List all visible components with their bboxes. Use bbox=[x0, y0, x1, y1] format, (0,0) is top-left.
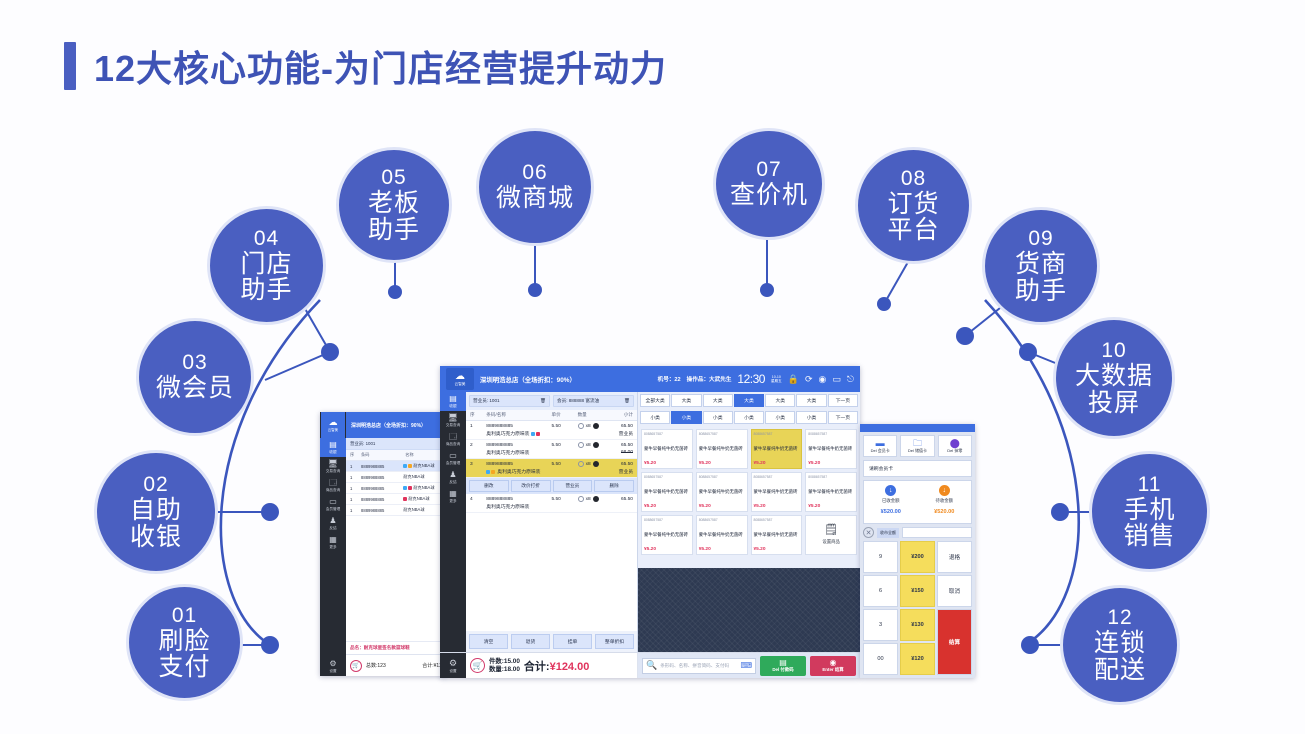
tab-minor[interactable]: 小类 bbox=[703, 411, 733, 424]
down-arrow-icon: ↓ bbox=[885, 485, 896, 496]
feature-number: 07 bbox=[756, 159, 781, 181]
key-backspace[interactable]: 退格 bbox=[937, 541, 972, 573]
pos-small-footer: 🛒 总数:123 合计:¥12 bbox=[346, 654, 446, 676]
feature-number: 02 bbox=[143, 474, 168, 496]
pos-main-body: ▤ 收银 🖥 交易查询 🗔 商品查询 ▭ 会员管理 ♟ 反结 bbox=[440, 392, 860, 652]
received-label: 已收金额 bbox=[882, 498, 900, 503]
feature-number: 06 bbox=[522, 162, 547, 184]
tab-major[interactable]: 大类 bbox=[703, 394, 733, 407]
row-name: 奥利奥巧克力原味装 bbox=[486, 430, 529, 437]
product-card[interactable]: 8088657587 蒙牛早餐纯牛奶无菌砖 ¥5.20 bbox=[805, 472, 857, 512]
feature-circle-01[interactable]: 01 刷脸支付 bbox=[126, 584, 243, 701]
sidebar-label: 收银 bbox=[449, 404, 456, 409]
total-label: 合计: bbox=[524, 661, 550, 673]
settle-icon: ◉ bbox=[830, 659, 837, 667]
key-amount[interactable]: ¥150 bbox=[900, 575, 935, 607]
sidebar-label: 反结 bbox=[449, 480, 456, 485]
monitor-icon: 🖥 bbox=[448, 414, 458, 422]
product-code: 8088657587 bbox=[699, 518, 745, 522]
date-display: 10-10 星期五 bbox=[771, 375, 782, 384]
row-index: 1 bbox=[350, 475, 361, 480]
tab-major[interactable]: 大类 bbox=[765, 394, 795, 407]
barcode-icon: ▤ bbox=[779, 659, 787, 667]
row-code: 8889888885 bbox=[486, 497, 551, 502]
amount-tag: 收市全额 bbox=[877, 528, 899, 538]
tab-minor[interactable]: 小类 bbox=[765, 411, 795, 424]
goods-icon: 🗔 bbox=[329, 479, 338, 487]
row-name: 耐克NBA球 bbox=[413, 485, 434, 491]
row-subtotal: 65.50 bbox=[607, 497, 633, 502]
settings-goods-icon: 🗒 bbox=[824, 525, 838, 536]
hold-button[interactable]: 挂单 bbox=[553, 634, 592, 649]
plus-button[interactable] bbox=[593, 423, 599, 429]
tab-major[interactable]: 全部大类 bbox=[640, 394, 670, 407]
product-code: 8088657587 bbox=[754, 518, 800, 522]
feature-label: 老板助手 bbox=[368, 190, 420, 243]
reverse-icon: ♟ bbox=[449, 471, 456, 479]
cart-row-line1: 2 8889888885 5.50 x8 65.50 bbox=[470, 442, 633, 448]
sidebar-label: 商品查询 bbox=[446, 442, 460, 447]
cart-icon: 🛒 bbox=[470, 658, 485, 673]
pos-small-title: 深圳明浩总店（全场折扣：90%） bbox=[346, 412, 446, 438]
search-placeholder: 条形码、名称、拼音简码、支付码 bbox=[660, 663, 729, 669]
payment-keypad: 9 ¥200 退格 6 ¥150 取消 3 ¥130 结算 00 ¥120 bbox=[860, 541, 975, 678]
product-price: ¥5.20 bbox=[754, 547, 800, 552]
cart-buttons: 清空 退货 挂单 整单折扣 bbox=[466, 631, 637, 652]
feature-number: 05 bbox=[381, 167, 406, 189]
product-card[interactable]: 8088657587 蒙牛早餐纯牛奶无菌砖 ¥5.20 bbox=[751, 515, 803, 555]
sidebar-item-cashier[interactable]: ▤ 收银 bbox=[440, 392, 466, 411]
key-digit[interactable]: 9 bbox=[863, 541, 898, 573]
feature-number: 11 bbox=[1138, 474, 1162, 496]
tag-dot bbox=[536, 432, 540, 436]
row-note: 营业员 bbox=[619, 430, 633, 437]
key-settle[interactable]: 结算 bbox=[937, 609, 972, 675]
shop-title: 深圳明浩总店（全场折扣：90%） bbox=[480, 375, 576, 384]
set-goods-label: 设置商品 bbox=[822, 539, 840, 544]
table-row[interactable]: 1 8889988885 耐克NBA球 bbox=[346, 494, 446, 505]
product-card[interactable]: 8088657587 蒙牛早餐纯牛奶无菌砖 ¥5.20 bbox=[805, 429, 857, 469]
feature-number: 09 bbox=[1028, 228, 1053, 250]
row-index: 4 bbox=[470, 497, 486, 502]
sidebar-label: 更多 bbox=[329, 545, 336, 550]
product-card[interactable]: 8088657587 蒙牛早餐纯牛奶无菌砖 ¥5.20 bbox=[696, 429, 748, 469]
row-name: 奥利奥巧克力原味装 bbox=[486, 503, 529, 510]
brand-logo-icon: ☁ 云智美 bbox=[321, 412, 345, 438]
row-name: 奥利奥巧克力原味装 bbox=[497, 468, 540, 475]
payment-card-buttons: ▬ Del 会员卡 🗀 Del 储值卡 ⬤ Del 抹零 bbox=[860, 432, 975, 460]
product-card[interactable]: 8088657587 蒙牛早餐纯牛奶无菌砖 ¥5.20 bbox=[696, 472, 748, 512]
cart-row-line2: 奥利奥巧克力原味装 营业员 bbox=[470, 468, 633, 475]
monitor-icon: 🖥 bbox=[328, 460, 338, 468]
action-discount[interactable]: 改价打折 bbox=[511, 480, 551, 492]
feature-circle-05[interactable]: 05 老板助手 bbox=[336, 147, 452, 263]
row-index: 3 bbox=[470, 462, 486, 467]
pending-amount: ↓ 待收金额 ¥520.00 bbox=[918, 481, 972, 523]
product-code: 8088657587 bbox=[644, 518, 690, 522]
total-amount: 合计:¥124.00 bbox=[524, 658, 589, 674]
tag-dot bbox=[491, 470, 495, 474]
row-qty: x8 bbox=[586, 443, 591, 448]
feature-number: 03 bbox=[182, 352, 207, 374]
row-code: 8889988885 bbox=[361, 475, 403, 480]
member-card-icon: ▬ bbox=[864, 439, 896, 448]
row-code: 8889988885 bbox=[361, 464, 403, 469]
pos-small-empty-area bbox=[346, 516, 446, 641]
grid-icon: ▦ bbox=[449, 490, 457, 498]
trash-icon[interactable]: 🗑 bbox=[624, 398, 630, 404]
product-code: 8088657587 bbox=[808, 432, 854, 436]
slide-canvas: 12大核心功能-为门店经营提升动力 bbox=[0, 0, 1305, 734]
received-value: ¥520.00 bbox=[864, 505, 918, 519]
feature-circle-04[interactable]: 04 门店助手 bbox=[207, 206, 326, 325]
feature-label: 货商助手 bbox=[1015, 251, 1067, 304]
product-code: 8088657587 bbox=[754, 432, 800, 436]
minus-button[interactable] bbox=[578, 461, 584, 467]
pos-small-clerk: 营业员: 1001 bbox=[346, 438, 446, 450]
row-subtotal: 65.50 bbox=[607, 462, 633, 467]
product-name: 蒙牛早餐纯牛奶无菌砖 bbox=[644, 532, 690, 537]
key-digit[interactable]: 00 bbox=[863, 643, 898, 675]
cart-row-actions: 删改 改价打折 营业员 删除 bbox=[466, 478, 637, 494]
feature-label: 微会员 bbox=[156, 375, 234, 401]
cashier-icon: ▤ bbox=[329, 441, 337, 449]
feature-number: 12 bbox=[1107, 607, 1132, 629]
clear-button[interactable]: 清空 bbox=[469, 634, 508, 649]
wifi-icon[interactable]: ◉ bbox=[819, 374, 827, 385]
product-name: 蒙牛早餐纯牛奶无菌砖 bbox=[808, 489, 854, 494]
card-icon: ▭ bbox=[449, 452, 457, 460]
row-name: 耐克NBA球 bbox=[403, 474, 424, 480]
operator-name: 操作品：大武先生 bbox=[687, 375, 732, 383]
product-name: 蒙牛早餐纯牛奶无菌砖 bbox=[754, 532, 800, 537]
brand-name: 云智美 bbox=[328, 427, 338, 432]
action-clerk[interactable]: 营业员 bbox=[553, 480, 593, 492]
keyboard-icon[interactable]: ⌨ bbox=[740, 661, 752, 670]
feature-label: 刷脸支付 bbox=[158, 628, 210, 681]
member-card-label: Del 会员卡 bbox=[871, 448, 890, 453]
key-digit[interactable]: 3 bbox=[863, 609, 898, 641]
goods-icon: 🗔 bbox=[449, 433, 458, 441]
row-qty: x8 bbox=[586, 424, 591, 429]
coin-icon: ⬤ bbox=[939, 439, 971, 448]
whole-discount-button[interactable]: 整单折扣 bbox=[595, 634, 634, 649]
action-edit[interactable]: 删改 bbox=[469, 480, 509, 492]
feature-circle-12[interactable]: 12 连锁配送 bbox=[1060, 585, 1180, 705]
feature-circle-02[interactable]: 02 自助收银 bbox=[94, 450, 218, 574]
row-note: 营业员 bbox=[619, 468, 633, 475]
plus-button[interactable] bbox=[593, 461, 599, 467]
feature-circle-10[interactable]: 10 大数据投屏 bbox=[1053, 317, 1175, 439]
row-index: 1 bbox=[470, 424, 486, 429]
pieces-count: 件数:15.00 bbox=[489, 658, 520, 666]
sidebar-item-goods[interactable]: 🗔 商品查询 bbox=[440, 430, 466, 449]
pos-small-qty: 总数:123 bbox=[366, 662, 386, 669]
product-card[interactable]: 8088657587 蒙牛早餐纯牛奶无菌砖 ¥5.20 bbox=[641, 472, 693, 512]
cart-empty-area bbox=[466, 513, 637, 631]
row-index: 2 bbox=[470, 443, 486, 448]
pay-code-label: Del 付款码 bbox=[772, 667, 793, 672]
brand-logo-icon: ☁ 云智美 bbox=[446, 368, 474, 390]
key-digit[interactable]: 6 bbox=[863, 575, 898, 607]
cart-row-selected[interactable]: 3 8889888885 5.50 x8 65.50 bbox=[466, 459, 637, 478]
pos-small-body: 深圳明浩总店（全场折扣：90%） 营业员: 1001 序 条码 名称 1 888… bbox=[346, 412, 446, 676]
row-name: 耐克NBA球 bbox=[408, 496, 429, 502]
pos-main-header: ☁ 云智美 深圳明浩总店（全场折扣：90%） 机号：22 操作品：大武先生 12… bbox=[440, 366, 860, 392]
tag-dot bbox=[403, 486, 407, 490]
feature-label: 自助收银 bbox=[130, 497, 182, 550]
clear-icon[interactable]: ✕ bbox=[863, 527, 874, 538]
set-goods-button[interactable]: 🗒 设置商品 bbox=[805, 515, 857, 555]
row-price: 5.50 bbox=[551, 424, 577, 429]
product-card[interactable]: 8088657587 蒙牛早餐纯牛奶无菌砖 ¥5.20 bbox=[696, 515, 748, 555]
product-price: ¥5.20 bbox=[754, 504, 800, 509]
row-code: 8889988885 bbox=[361, 508, 403, 513]
cart-row[interactable]: 2 8889888885 5.50 x8 65.50 奥利奥巧克力原味装 bbox=[466, 440, 637, 459]
sidebar-label: 交易查询 bbox=[446, 423, 460, 428]
feature-circle-08[interactable]: 08 订货平台 bbox=[855, 147, 972, 264]
row-index: 1 bbox=[350, 508, 361, 513]
sidebar-item-settings[interactable]: ⚙ 设置 bbox=[320, 657, 346, 676]
table-row[interactable]: 1 8889988885 耐克NBA球 bbox=[346, 483, 446, 494]
feature-circle-11[interactable]: 11 手机销售 bbox=[1089, 451, 1210, 572]
down-arrow-icon: ↓ bbox=[939, 485, 950, 496]
row-name: 耐克NBA球 bbox=[403, 507, 424, 513]
product-price: ¥5.20 bbox=[808, 504, 854, 509]
tab-minor-next[interactable]: 下一页 bbox=[828, 411, 858, 424]
feature-label: 大数据投屏 bbox=[1075, 363, 1153, 416]
pos-screenshot-payment: ▬ Del 会员卡 🗀 Del 储值卡 ⬤ Del 抹零 请刷会员卡 ↓ 已收金… bbox=[860, 424, 975, 678]
sidebar-label: 会员管理 bbox=[326, 507, 340, 512]
row-price: 5.50 bbox=[551, 497, 577, 502]
sidebar-item-reverse[interactable]: ♟ 反结 bbox=[320, 514, 346, 533]
stored-value-card-button[interactable]: 🗀 Del 储值卡 bbox=[900, 435, 934, 457]
tab-major[interactable]: 大类 bbox=[796, 394, 826, 407]
plus-button[interactable] bbox=[593, 442, 599, 448]
brand-name: 云智美 bbox=[455, 382, 466, 387]
summary-counts: 件数:15.00 数量:18.00 bbox=[489, 658, 520, 674]
feature-number: 08 bbox=[901, 168, 926, 190]
exit-icon[interactable]: ⎋ bbox=[847, 374, 854, 385]
feature-number: 01 bbox=[172, 605, 197, 627]
product-name: 蒙牛早餐纯牛奶无菌砖 bbox=[644, 489, 690, 494]
row-note: 68.00 bbox=[621, 450, 633, 455]
header-icon-group: 🔒 ⟳ ◉ ▭ ⎋ bbox=[788, 374, 854, 385]
product-name: 蒙牛早餐纯牛奶无菌砖 bbox=[754, 446, 800, 451]
quantity-count: 数量:18.00 bbox=[489, 666, 520, 674]
wallet-icon: 🗀 bbox=[901, 439, 933, 448]
payment-input-row: ✕ 收市全额 bbox=[863, 527, 972, 538]
pending-value: ¥520.00 bbox=[918, 505, 972, 519]
refresh-icon[interactable]: ⟳ bbox=[805, 374, 813, 385]
sidebar-label: 商品查询 bbox=[326, 488, 340, 493]
feature-number: 10 bbox=[1101, 340, 1126, 362]
minus-button[interactable] bbox=[578, 496, 584, 502]
tab-major-next[interactable]: 下一页 bbox=[828, 394, 858, 407]
tab-major[interactable]: 大类 bbox=[671, 394, 701, 407]
plus-button[interactable] bbox=[593, 496, 599, 502]
sidebar-item-goods[interactable]: 🗔 商品查询 bbox=[320, 476, 346, 495]
pos-small-product-name: 品名：耐克球星签名款篮球鞋 bbox=[346, 641, 446, 654]
key-amount[interactable]: ¥120 bbox=[900, 643, 935, 675]
tab-minor[interactable]: 小类 bbox=[734, 411, 764, 424]
row-index: 1 bbox=[350, 497, 361, 502]
table-row[interactable]: 1 8889988885 耐克NBA球 bbox=[346, 472, 446, 483]
clerk-label: 营业员: 1001 bbox=[473, 398, 500, 404]
sidebar-item-cashier[interactable]: ▤ 收银 bbox=[320, 438, 346, 457]
lock-icon[interactable]: 🔒 bbox=[788, 374, 799, 385]
product-card-selected[interactable]: 8088657587 蒙牛早餐纯牛奶无菌砖 ¥5.20 bbox=[751, 429, 803, 469]
footer-settings[interactable]: ⚙ 设置 bbox=[440, 653, 466, 678]
pay-code-button[interactable]: ▤ Del 付款码 bbox=[760, 656, 806, 676]
footer-actions: 🔍 条形码、名称、拼音简码、支付码 ⌨ ▤ Del 付款码 ◉ Enter 结算 bbox=[638, 653, 860, 678]
payment-title-bar bbox=[860, 424, 975, 432]
member-card-button[interactable]: ▬ Del 会员卡 bbox=[863, 435, 897, 457]
pos-screenshot-small: ☁ 云智美 ▤ 收银 🖥 交易查询 🗔 商品查询 ▭ 会员管理 ♟ 反结 bbox=[320, 412, 446, 676]
pos-small-sidebar: ☁ 云智美 ▤ 收银 🖥 交易查询 🗔 商品查询 ▭ 会员管理 ♟ 反结 bbox=[320, 412, 346, 676]
feature-circle-06[interactable]: 06 微商城 bbox=[476, 128, 594, 246]
tag-dot bbox=[408, 486, 412, 490]
card-icon: ▭ bbox=[329, 498, 337, 506]
action-delete[interactable]: 删除 bbox=[594, 480, 634, 492]
cart-row-line1: 1 8889888885 5.50 x8 65.50 bbox=[470, 423, 633, 429]
settings-label: 设置 bbox=[449, 669, 456, 674]
row-qty: x8 bbox=[586, 497, 591, 502]
feature-label: 查价机 bbox=[730, 182, 808, 208]
product-price: ¥5.20 bbox=[754, 461, 800, 466]
feature-label: 连锁配送 bbox=[1094, 630, 1146, 683]
product-code: 8088657587 bbox=[699, 432, 745, 436]
stored-value-label: Del 储值卡 bbox=[908, 448, 927, 453]
tab-minor[interactable]: 小类 bbox=[796, 411, 826, 424]
sidebar-item-members[interactable]: ▭ 会员管理 bbox=[320, 495, 346, 514]
category-tabs-minor: 小类 小类 小类 小类 小类 小类 下一页 bbox=[638, 409, 860, 426]
tab-minor-active[interactable]: 小类 bbox=[671, 411, 701, 424]
product-name: 蒙牛早餐纯牛奶无菌砖 bbox=[644, 446, 690, 451]
sidebar-label: 反结 bbox=[329, 526, 336, 531]
tab-minor[interactable]: 小类 bbox=[640, 411, 670, 424]
cashier-icon: ▤ bbox=[449, 395, 457, 403]
total-value: ¥124.00 bbox=[550, 661, 590, 673]
machine-number: 机号：22 bbox=[658, 375, 681, 383]
pending-label: 待收金额 bbox=[935, 498, 953, 503]
sidebar-item-transactions[interactable]: 🖥 交易查询 bbox=[440, 411, 466, 430]
product-panel-filler bbox=[638, 568, 860, 652]
sidebar-label: 更多 bbox=[449, 499, 456, 504]
cart-icon: 🛒 bbox=[350, 660, 362, 672]
sidebar-item-members[interactable]: ▭ 会员管理 bbox=[440, 449, 466, 468]
pos-small-table-head: 序 条码 名称 bbox=[346, 450, 446, 461]
pos-main-footer: ⚙ 设置 🛒 件数:15.00 数量:18.00 合计:¥124.00 🔍 条形… bbox=[440, 652, 860, 678]
clock-display: 12:30 bbox=[737, 372, 765, 386]
cloud-icon: ☁ bbox=[329, 418, 338, 427]
footer-summary: 🛒 件数:15.00 数量:18.00 合计:¥124.00 bbox=[466, 653, 638, 678]
row-price: 5.50 bbox=[551, 443, 577, 448]
amount-input[interactable] bbox=[902, 527, 972, 538]
product-card[interactable]: 8088657587 蒙牛早餐纯牛奶无菌砖 ¥5.20 bbox=[641, 429, 693, 469]
product-code: 8088657587 bbox=[754, 475, 800, 479]
tag-dot bbox=[403, 497, 407, 501]
table-row[interactable]: 1 8889988885 耐克NBA球 bbox=[346, 461, 446, 472]
tab-major-active[interactable]: 大类 bbox=[734, 394, 764, 407]
cart-row[interactable]: 1 8889888885 5.50 x8 65.50 奥利奥巧克力原味装 bbox=[466, 421, 637, 440]
table-row[interactable]: 1 8889988885 耐克NBA球 bbox=[346, 505, 446, 516]
product-card[interactable]: 8088657587 蒙牛早餐纯牛奶无菌砖 ¥5.20 bbox=[751, 472, 803, 512]
key-cancel[interactable]: 取消 bbox=[937, 575, 972, 607]
product-price: ¥5.20 bbox=[699, 547, 745, 552]
clerk-member-bar: 营业员: 1001 🗑 会员: 888888 富流油 🗑 bbox=[466, 392, 637, 410]
row-subtotal: 65.50 bbox=[607, 424, 633, 429]
feature-circle-07[interactable]: 07 查价机 bbox=[713, 128, 825, 240]
trash-icon[interactable]: 🗑 bbox=[540, 398, 546, 404]
row-code: 8889988885 bbox=[361, 486, 403, 491]
sidebar-item-more[interactable]: ▦ 更多 bbox=[320, 533, 346, 552]
feature-number: 04 bbox=[254, 228, 279, 250]
row-index: 1 bbox=[350, 464, 361, 469]
search-icon: 🔍 bbox=[646, 660, 657, 671]
key-amount[interactable]: ¥130 bbox=[900, 609, 935, 641]
feature-label: 门店助手 bbox=[240, 251, 292, 304]
product-price: ¥5.20 bbox=[644, 504, 690, 509]
grid-icon: ▦ bbox=[329, 536, 337, 544]
sidebar-item-reverse[interactable]: ♟ 反结 bbox=[440, 468, 466, 487]
member-field[interactable]: 会员: 888888 富流油 🗑 bbox=[553, 395, 634, 407]
gear-icon: ⚙ bbox=[449, 658, 457, 669]
round-off-button[interactable]: ⬤ Del 抹零 bbox=[938, 435, 972, 457]
sidebar-item-transactions[interactable]: 🖥 交易查询 bbox=[320, 457, 346, 476]
clerk-field[interactable]: 营业员: 1001 🗑 bbox=[469, 395, 550, 407]
product-price: ¥5.20 bbox=[644, 547, 690, 552]
sidebar-item-more[interactable]: ▦ 更多 bbox=[440, 487, 466, 506]
search-input[interactable]: 🔍 条形码、名称、拼音简码、支付码 ⌨ bbox=[642, 658, 756, 674]
gear-icon: ⚙ bbox=[329, 660, 336, 668]
row-code: 8889888885 bbox=[486, 462, 551, 467]
product-price: ¥5.20 bbox=[808, 461, 854, 466]
reverse-icon: ♟ bbox=[329, 517, 336, 525]
cart-row[interactable]: 4 8889888885 5.50 x8 65.50 奥利奥巧克力原味装 bbox=[466, 494, 637, 513]
product-name: 蒙牛早餐纯牛奶无菌砖 bbox=[754, 489, 800, 494]
feature-label: 手机销售 bbox=[1123, 497, 1175, 550]
key-amount[interactable]: ¥200 bbox=[900, 541, 935, 573]
sidebar-label: 会员管理 bbox=[446, 461, 460, 466]
cart-row-line2: 奥利奥巧克力原味装 68.00 bbox=[470, 449, 633, 456]
pos-main-cart-panel: 营业员: 1001 🗑 会员: 888888 富流油 🗑 序 条码/名称 单价 … bbox=[466, 392, 638, 652]
feature-circle-09[interactable]: 09 货商助手 bbox=[982, 207, 1100, 325]
product-code: 8088657587 bbox=[699, 475, 745, 479]
row-code: 8889888885 bbox=[486, 424, 551, 429]
cart-table-head: 序 条码/名称 单价 数量 小计 bbox=[466, 410, 637, 421]
tag-dot bbox=[486, 470, 490, 474]
feature-label: 微商城 bbox=[496, 185, 574, 211]
product-card[interactable]: 8088657587 蒙牛早餐纯牛奶无菌砖 ¥5.20 bbox=[641, 515, 693, 555]
settle-label: Enter 结算 bbox=[822, 667, 843, 672]
return-button[interactable]: 退货 bbox=[511, 634, 550, 649]
product-name: 蒙牛早餐纯牛奶无菌砖 bbox=[699, 489, 745, 494]
feature-circle-03[interactable]: 03 微会员 bbox=[136, 318, 254, 436]
cloud-icon: ☁ bbox=[455, 372, 465, 382]
sidebar-label: 交易查询 bbox=[326, 469, 340, 474]
product-name: 蒙牛早餐纯牛奶无菌砖 bbox=[808, 446, 854, 451]
minimize-icon[interactable]: ▭ bbox=[832, 374, 841, 385]
minus-button[interactable] bbox=[578, 423, 584, 429]
swipe-card-hint[interactable]: 请刷会员卡 bbox=[863, 460, 972, 477]
row-code: 8889988885 bbox=[361, 497, 403, 502]
product-price: ¥5.20 bbox=[699, 504, 745, 509]
cart-row-line2: 奥利奥巧克力原味装 营业员 bbox=[470, 430, 633, 437]
cart-row-line1: 4 8889888885 5.50 x8 65.50 bbox=[470, 496, 633, 502]
settle-button[interactable]: ◉ Enter 结算 bbox=[810, 656, 856, 676]
minus-button[interactable] bbox=[578, 442, 584, 448]
